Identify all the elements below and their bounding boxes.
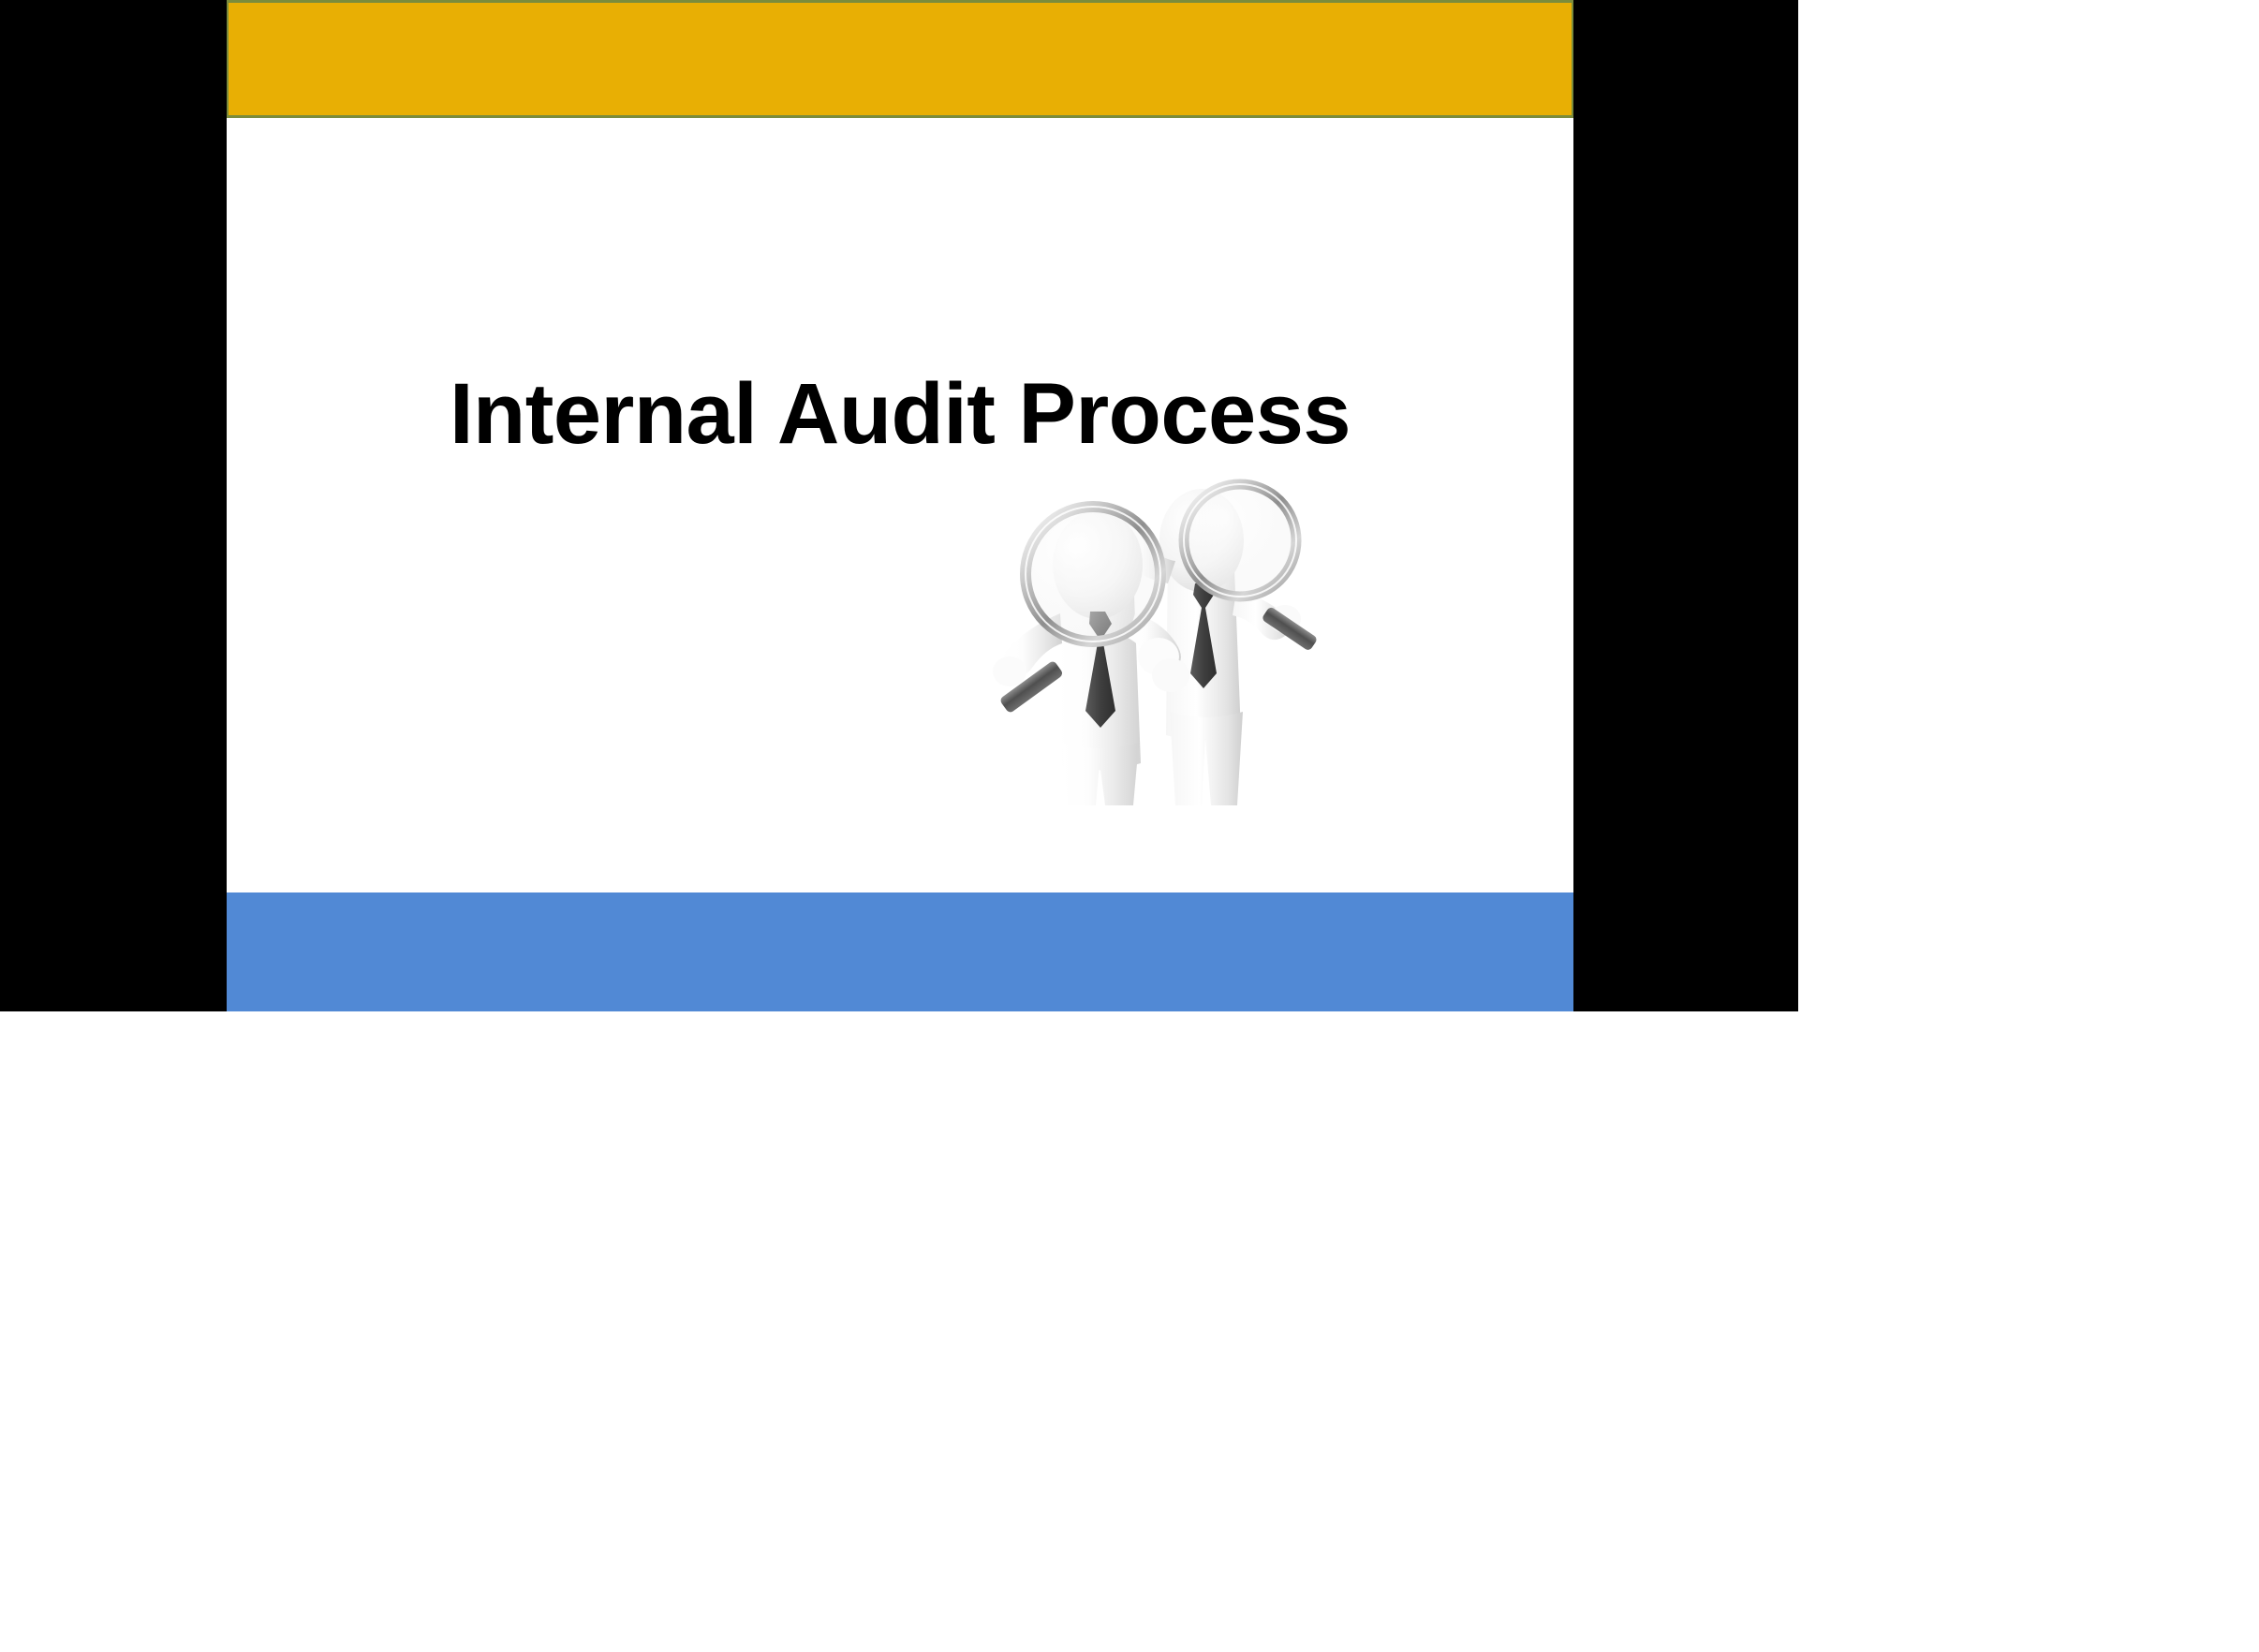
page-title: Internal Audit Process [227,367,1573,461]
slide-body [227,118,1573,892]
presentation-slide: Internal Audit Process [227,0,1573,1011]
audit-illustration [940,473,1352,805]
top-accent-band [227,0,1573,118]
figure-left [993,507,1189,805]
bottom-accent-band [227,892,1573,1011]
